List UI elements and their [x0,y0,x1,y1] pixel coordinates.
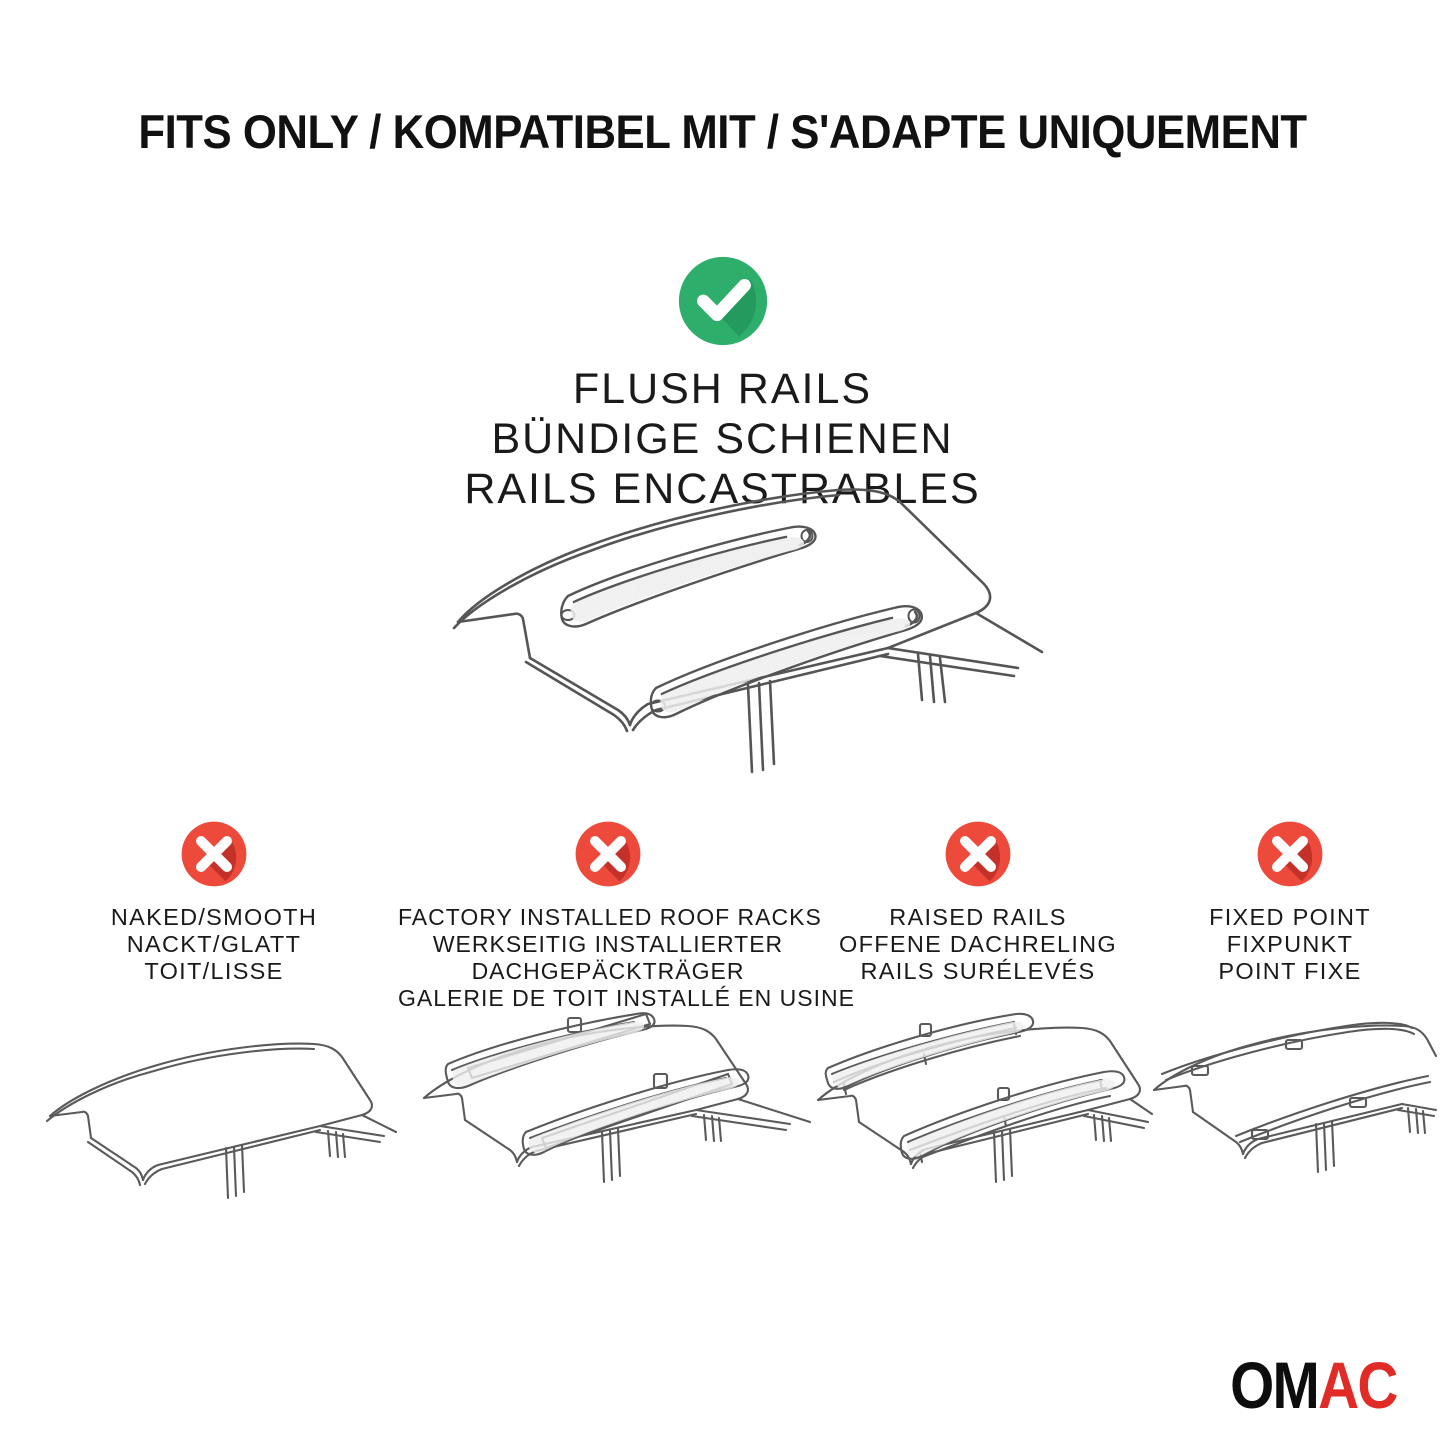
car-roof-bare-illustration [28,1026,400,1226]
incompatible-row: NAKED/SMOOTH NACKT/GLATT TOIT/LISSE [0,818,1445,1258]
label-line-de-2: DACHGEPÄCKTRÄGER [398,958,818,985]
label-line-de: OFFENE DACHRELING [800,931,1156,958]
label-line-en: FACTORY INSTALLED ROOF RACKS [398,904,818,931]
cross-circle-icon [942,818,1014,890]
incompatible-labels: NAKED/SMOOTH NACKT/GLATT TOIT/LISSE [28,904,400,985]
car-roof-with-flush-rails-illustration [418,472,1048,782]
car-roof-with-raised-rails-illustration [800,1004,1156,1214]
car-roof-with-fixed-points-illustration [1140,1008,1440,1208]
incompatible-item-naked-smooth: NAKED/SMOOTH NACKT/GLATT TOIT/LISSE [28,818,400,985]
car-roof-with-factory-crossbars-illustration [398,1002,818,1212]
cross-circle-icon [178,818,250,890]
label-line-fr: RAILS SURÉLEVÉS [800,958,1156,985]
incompatible-labels: FIXED POINT FIXPUNKT POINT FIXE [1140,904,1440,985]
compatible-label-en: FLUSH RAILS [0,364,1445,414]
check-circle-icon [674,252,772,350]
label-line-de-1: WERKSEITIG INSTALLIERTER [398,931,818,958]
compatible-label-de: BÜNDIGE SCHIENEN [0,414,1445,464]
label-line-en: NAKED/SMOOTH [28,904,400,931]
label-line-de: FIXPUNKT [1140,931,1440,958]
label-line-fr: TOIT/LISSE [28,958,400,985]
incompatible-item-raised-rails: RAISED RAILS OFFENE DACHRELING RAILS SUR… [800,818,1156,985]
incompatible-labels: RAISED RAILS OFFENE DACHRELING RAILS SUR… [800,904,1156,985]
incompatible-item-factory-roof-racks: FACTORY INSTALLED ROOF RACKS WERKSEITIG … [398,818,818,1012]
label-line-de: NACKT/GLATT [28,931,400,958]
omac-logo: OMAC [1230,1352,1397,1418]
incompatible-labels: FACTORY INSTALLED ROOF RACKS WERKSEITIG … [398,904,818,1012]
incompatible-item-fixed-point: FIXED POINT FIXPUNKT POINT FIXE [1140,818,1440,985]
logo-text-red: AC [1318,1348,1397,1422]
page-title: FITS ONLY / KOMPATIBEL MIT / S'ADAPTE UN… [51,104,1395,159]
label-line-en: FIXED POINT [1140,904,1440,931]
cross-circle-icon [572,818,644,890]
label-line-fr: POINT FIXE [1140,958,1440,985]
cross-circle-icon [1254,818,1326,890]
logo-text-dark: OM [1230,1348,1318,1422]
label-line-en: RAISED RAILS [800,904,1156,931]
